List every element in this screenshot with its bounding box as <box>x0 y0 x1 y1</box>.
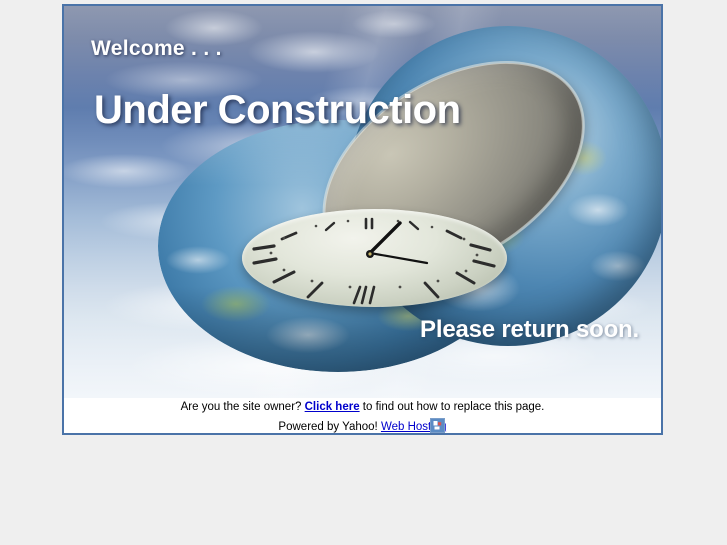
page-root: Welcome . . . Under Construction Please … <box>0 0 727 545</box>
welcome-text: Welcome . . . <box>91 37 222 61</box>
return-soon-text: Please return soon. <box>420 316 639 344</box>
site-owner-notice-suffix: to find out how to replace this page. <box>360 401 545 413</box>
broken-image-icon <box>430 418 445 433</box>
site-owner-notice-prefix: Are you the site owner? <box>181 401 305 413</box>
click-here-link[interactable]: Click here <box>305 401 360 413</box>
powered-by-notice: Powered by Yahoo! Web Hosting <box>64 421 661 433</box>
clock-face-icon <box>242 209 507 307</box>
site-container: Welcome . . . Under Construction Please … <box>62 4 663 435</box>
site-owner-notice: Are you the site owner? Click here to fi… <box>64 401 661 413</box>
under-construction-banner-image: Welcome . . . Under Construction Please … <box>64 6 661 398</box>
powered-by-prefix: Powered by Yahoo! <box>278 421 381 433</box>
footer: Are you the site owner? Click here to fi… <box>64 398 661 433</box>
page-title: Under Construction <box>94 88 461 133</box>
